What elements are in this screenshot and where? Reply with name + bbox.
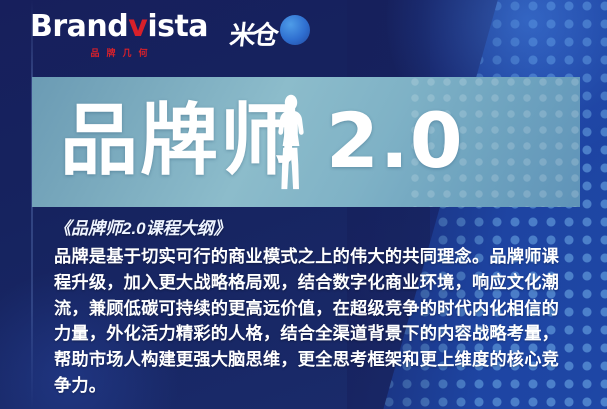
hero-title-cjk: 品牌师 — [60, 102, 300, 180]
brand-logo-chinese-glyph: 米仓 — [228, 15, 278, 52]
brand-logo-title-part1: Brand — [30, 9, 128, 44]
header-bar: Brandvista 品牌几何 米仓 — [0, 0, 607, 70]
blue-circle-icon — [280, 15, 310, 45]
brand-logo-subtitle: 品牌几何 — [84, 46, 155, 59]
brand-logo[interactable]: Brandvista 品牌几何 米仓 — [30, 12, 312, 59]
brand-logo-title-accent: v — [128, 9, 147, 44]
poster-root: Brandvista 品牌几何 米仓 品牌师 2.0 《品牌师2.0课程大纲》 … — [0, 0, 607, 409]
brand-logo-wordmark: Brandvista 品牌几何 — [30, 12, 208, 59]
hero-banner: 品牌师 2.0 — [32, 77, 580, 207]
course-outline-title: 《品牌师2.0课程大纲》 — [54, 214, 559, 239]
course-outline-paragraph: 品牌是基于切实可行的商业模式之上的伟大的共同理念。品牌师课程升级，加入更大战略格… — [54, 244, 559, 399]
brand-logo-title-part2: ista — [147, 9, 208, 44]
course-outline-block: 《品牌师2.0课程大纲》 品牌是基于切实可行的商业模式之上的伟大的共同理念。品牌… — [54, 214, 559, 399]
brand-logo-chinese-mark: 米仓 — [226, 13, 312, 55]
brand-logo-title: Brandvista — [30, 12, 208, 42]
standing-person-silhouette-icon — [274, 93, 308, 191]
hero-title-group: 品牌师 2.0 — [60, 87, 464, 195]
hero-title-version: 2.0 — [326, 103, 464, 179]
